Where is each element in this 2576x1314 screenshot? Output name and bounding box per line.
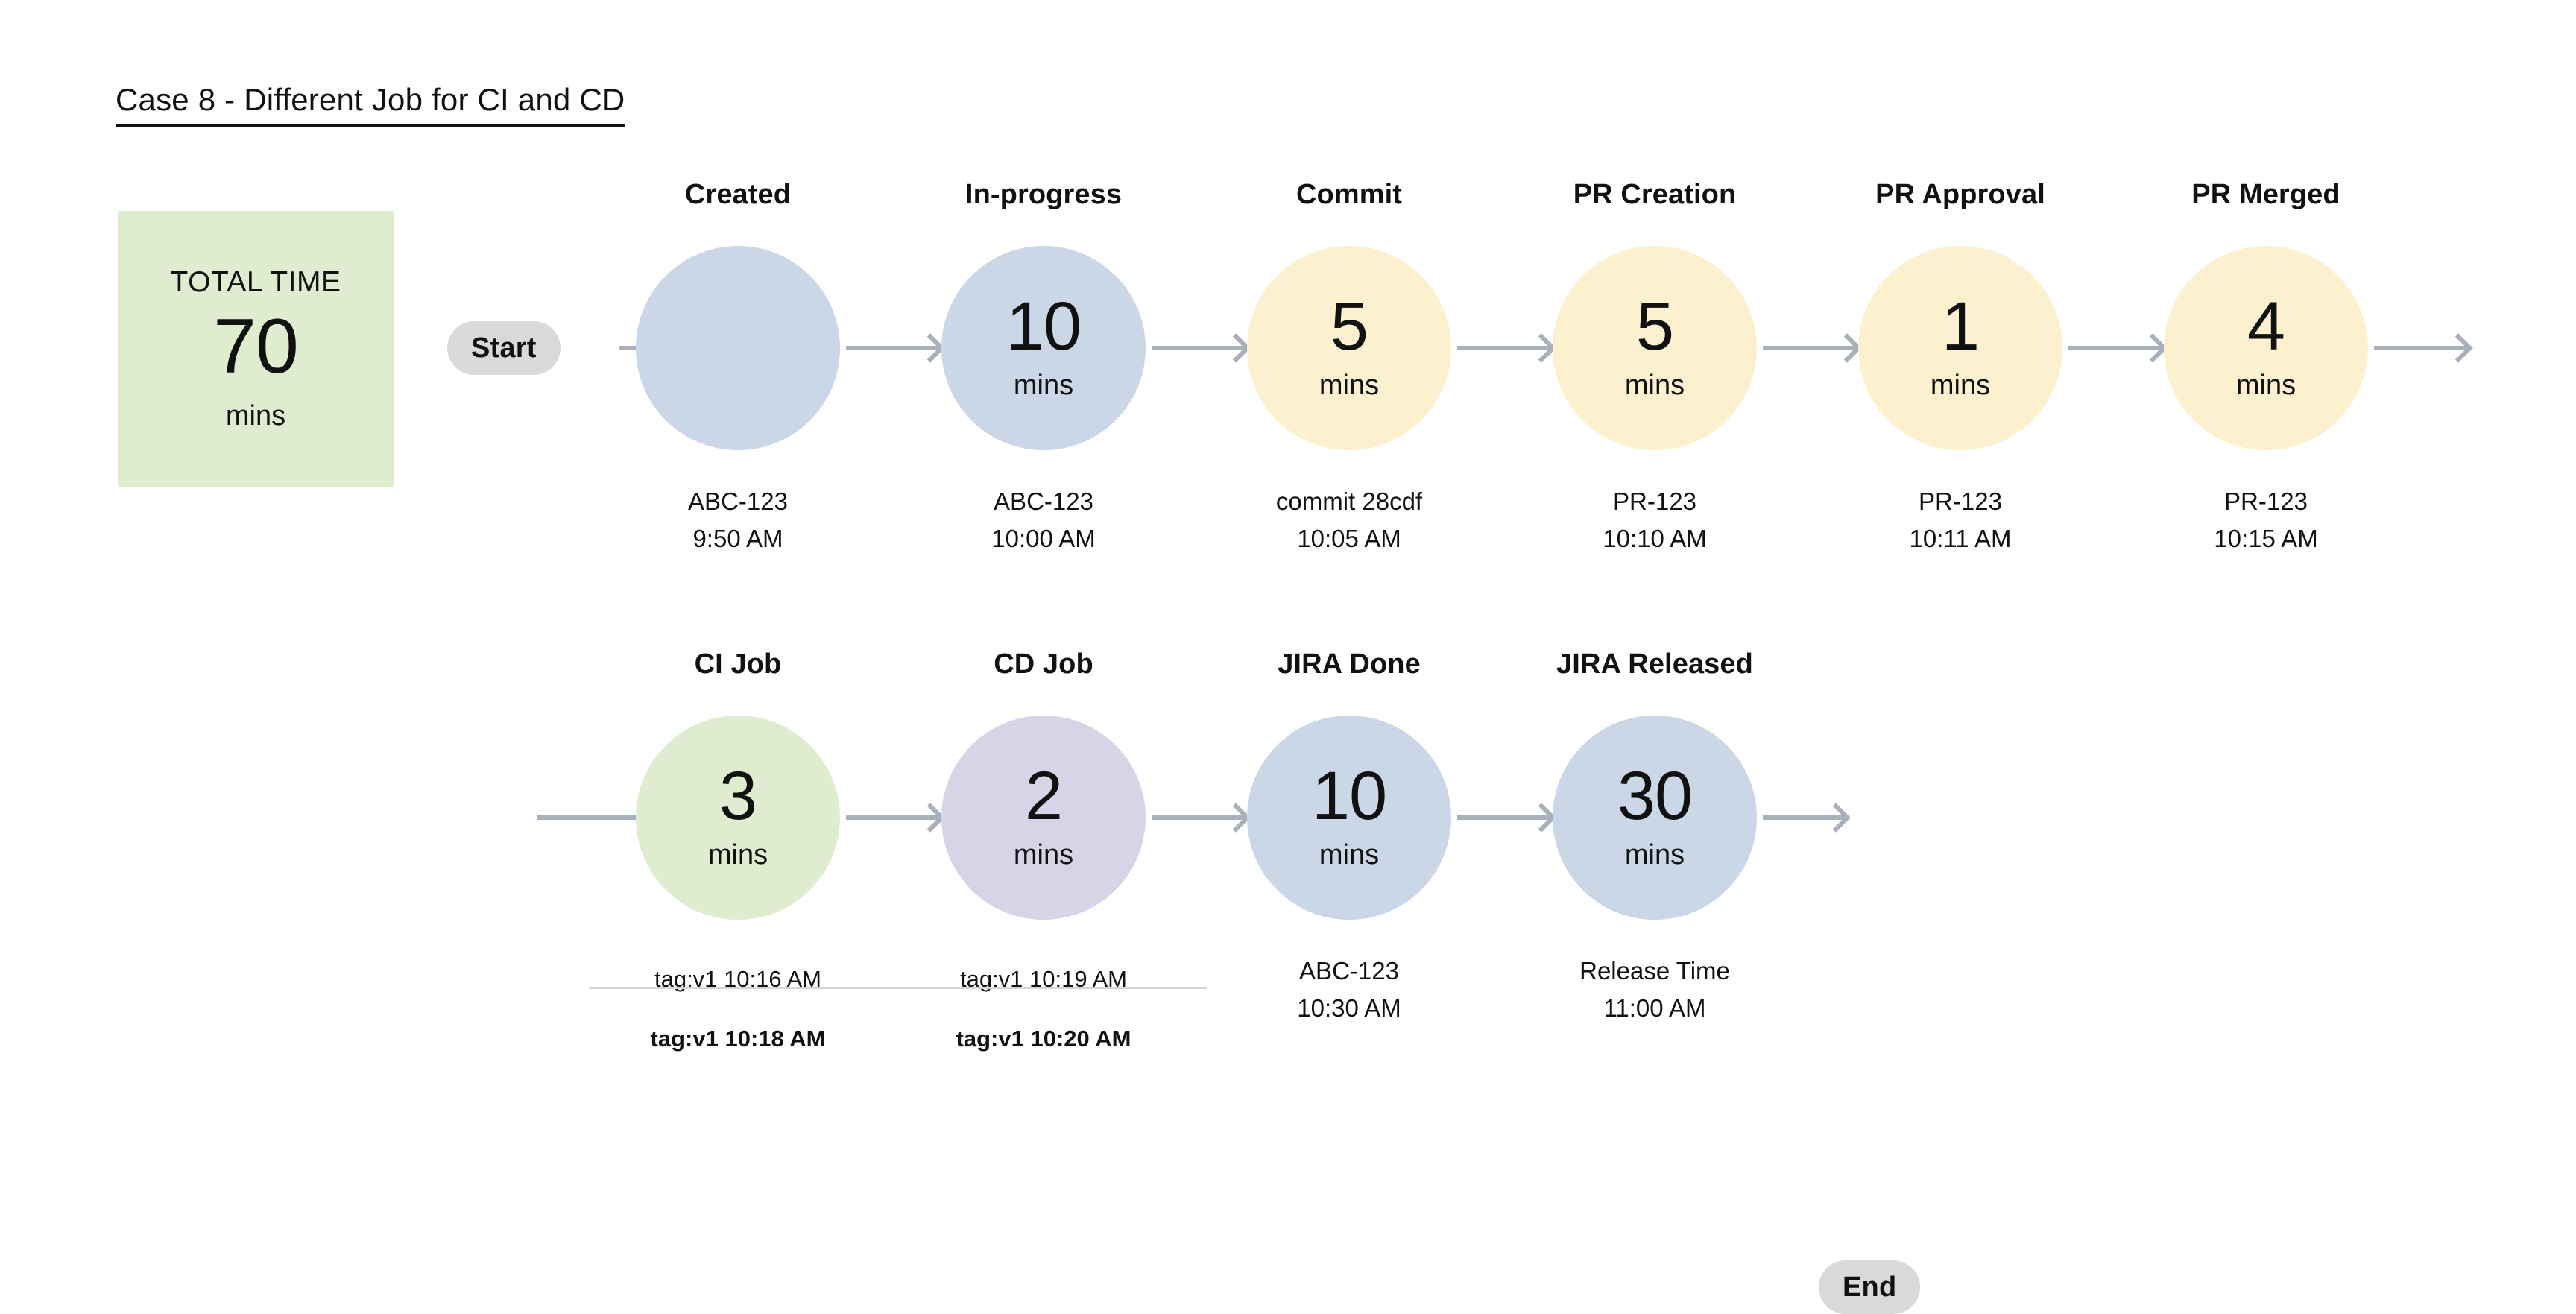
node-meta-line2: 10:10 AM [1498, 520, 1811, 557]
node-meta: PR-123 10:15 AM [2109, 483, 2422, 557]
node-value: 10 [1312, 764, 1386, 829]
node-title: JIRA Done [1193, 648, 1506, 680]
total-time-card: TOTAL TIME 70 mins [118, 211, 394, 487]
node-value: 10 [1006, 294, 1081, 359]
connector-prcreation-prapproval [1763, 346, 1856, 350]
node-meta: ABC-123 10:00 AM [887, 483, 1200, 557]
node-title: JIRA Released [1498, 648, 1811, 680]
node-meta-line2: tag:v1 10:18 AM [581, 1008, 894, 1056]
node-unit: mins [1625, 370, 1685, 402]
node-meta-line2: 10:00 AM [887, 520, 1200, 557]
page-title: Case 8 - Different Job for CI and CD [116, 82, 625, 127]
connector-created-inprogress [846, 346, 939, 350]
node-meta-line2: 10:05 AM [1193, 520, 1506, 557]
node-meta-line1: PR-123 [1613, 487, 1696, 515]
node-unit: mins [1319, 839, 1379, 871]
node-title: PR Approval [1804, 179, 2117, 211]
node-circle[interactable]: mins [636, 246, 840, 450]
node-meta-line1: ABC-123 [994, 487, 1093, 515]
node-title: PR Merged [2109, 179, 2422, 211]
node-meta-line1: PR-123 [1919, 487, 2002, 515]
node-value: 5 [1636, 294, 1673, 359]
connector-prmerged-wrap [2374, 346, 2467, 350]
node-meta-line1: Release Time [1579, 957, 1730, 985]
node-meta: PR-123 10:11 AM [1804, 483, 2117, 557]
connector-jiradone-jirareleased [1457, 815, 1550, 820]
start-node[interactable]: Start [447, 321, 561, 375]
node-meta-line2: 10:30 AM [1193, 990, 1506, 1027]
node-title: PR Creation [1498, 179, 1811, 211]
node-meta-line2: 9:50 AM [581, 520, 894, 557]
node-unit: mins [1319, 370, 1379, 402]
total-time-value: 70 [213, 308, 298, 385]
node-title: Created [581, 179, 894, 211]
node-unit: mins [2236, 370, 2296, 402]
node-circle[interactable]: 5 mins [1247, 246, 1451, 450]
connector-commit-prcreation [1457, 346, 1550, 350]
node-circle[interactable]: 5 mins [1553, 246, 1757, 450]
node-circle[interactable]: 4 mins [2164, 246, 2368, 450]
node-unit: mins [1014, 839, 1073, 871]
connector-cdjob-jiradone [1152, 815, 1245, 820]
end-node[interactable]: End [1819, 1260, 1920, 1314]
node-unit: mins [708, 839, 768, 871]
node-title: In-progress [887, 179, 1200, 211]
node-meta: Release Time 11:00 AM [1498, 953, 1811, 1027]
node-circle[interactable]: 2 mins [941, 716, 1146, 920]
node-meta-line1: tag:v1 10:16 AM [581, 961, 894, 1008]
node-value: 4 [2247, 294, 2285, 359]
node-meta-line1: tag:v1 10:19 AM [887, 961, 1200, 1008]
node-value: 5 [1330, 294, 1368, 359]
node-value: 3 [719, 764, 757, 829]
connector-jirareleased-end [1763, 815, 1845, 820]
node-circle[interactable]: 10 mins [1247, 716, 1451, 920]
node-circle[interactable]: 3 mins [636, 716, 840, 920]
total-time-unit: mins [226, 400, 285, 432]
node-meta: PR-123 10:10 AM [1498, 483, 1811, 557]
node-meta-line2: 10:15 AM [2109, 520, 2422, 557]
node-meta-line1: ABC-123 [688, 487, 788, 515]
node-circle[interactable]: 30 mins [1553, 716, 1757, 920]
connector-cijob-cdjob [846, 815, 939, 820]
node-meta-line1: PR-123 [2224, 487, 2308, 515]
connector-inprogress-commit [1152, 346, 1245, 350]
end-label: End [1843, 1272, 1896, 1304]
node-meta: tag:v1 10:16 AM tag:v1 10:18 AM [581, 961, 894, 1056]
node-unit: mins [1014, 370, 1073, 402]
node-meta: ABC-123 9:50 AM [581, 483, 894, 557]
node-meta: tag:v1 10:19 AM tag:v1 10:20 AM [887, 961, 1200, 1056]
node-circle[interactable]: 10 mins [941, 246, 1146, 450]
start-label: Start [471, 332, 537, 364]
node-meta-line2: 11:00 AM [1498, 990, 1811, 1027]
node-meta-line2: 10:11 AM [1804, 520, 2117, 557]
node-meta-line1: commit 28cdf [1276, 487, 1422, 515]
job-meta-divider [589, 987, 1207, 989]
node-value: 2 [1025, 764, 1062, 829]
connector-prapproval-prmerged [2068, 346, 2162, 350]
node-unit: mins [1625, 839, 1685, 871]
node-circle[interactable]: 1 mins [1858, 246, 2062, 450]
node-value: 1 [1942, 294, 1979, 359]
node-meta-line1: ABC-123 [1299, 957, 1399, 985]
node-unit: mins [1931, 370, 1990, 402]
node-title: Commit [1193, 179, 1506, 211]
node-meta: commit 28cdf 10:05 AM [1193, 483, 1506, 557]
total-time-label: TOTAL TIME [171, 266, 341, 299]
node-meta: ABC-123 10:30 AM [1193, 953, 1506, 1027]
node-value: 30 [1617, 764, 1692, 829]
node-meta-line2: tag:v1 10:20 AM [887, 1008, 1200, 1056]
node-title: CI Job [581, 648, 894, 680]
node-title: CD Job [887, 648, 1200, 680]
